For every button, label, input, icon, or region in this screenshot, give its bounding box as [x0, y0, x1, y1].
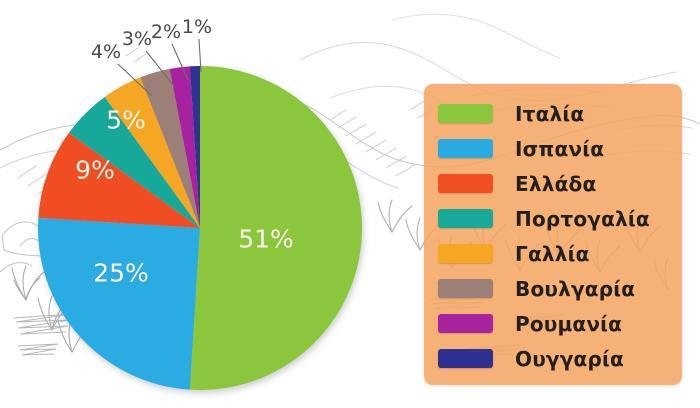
legend-item-romania[interactable]: Ρουμανία [424, 306, 682, 341]
legend-label-france: Γαλλία [515, 242, 590, 266]
legend-label-greece: Ελλάδα [515, 172, 596, 196]
chart-legend: Ιταλία Ισπανία Ελλάδα Πορτογαλία Γαλλία … [424, 84, 682, 385]
slice-callout-label-france: 4% [91, 41, 121, 63]
legend-swatch-romania [438, 314, 493, 333]
legend-swatch-france [438, 244, 493, 263]
legend-swatch-bulgaria [438, 279, 493, 298]
legend-swatch-spain [438, 139, 493, 158]
legend-item-spain[interactable]: Ισπανία [424, 131, 682, 166]
legend-label-spain: Ισπανία [515, 137, 604, 161]
legend-label-hungary: Ουγγαρία [515, 347, 624, 371]
legend-item-portugal[interactable]: Πορτογαλία [424, 201, 682, 236]
slice-callout-label-hungary: 1% [182, 16, 212, 38]
pie-slice-Ισπανία[interactable] [38, 218, 200, 390]
legend-label-italy: Ιταλία [515, 102, 584, 126]
legend-swatch-hungary [438, 349, 493, 368]
legend-swatch-portugal [438, 209, 493, 228]
legend-item-greece[interactable]: Ελλάδα [424, 166, 682, 201]
slice-value-label-portugal: 5% [106, 106, 146, 135]
legend-swatch-greece [438, 174, 493, 193]
pie-slices-group [38, 66, 362, 390]
slice-callout-label-romania: 2% [151, 21, 181, 43]
slice-value-label-greece: 9% [75, 156, 115, 185]
chart-canvas: 51% 25% 9% 5% 4% 3% 2% 1% Ιταλία Ισπανία… [0, 0, 700, 404]
legend-item-hungary[interactable]: Ουγγαρία [424, 341, 682, 376]
legend-item-bulgaria[interactable]: Βουλγαρία [424, 271, 682, 306]
legend-item-italy[interactable]: Ιταλία [424, 96, 682, 131]
legend-swatch-italy [438, 104, 493, 123]
slice-value-label-italy: 51% [238, 225, 294, 254]
legend-label-romania: Ρουμανία [515, 312, 622, 336]
slice-value-label-spain: 25% [93, 259, 149, 288]
legend-label-bulgaria: Βουλγαρία [515, 277, 635, 301]
legend-label-portugal: Πορτογαλία [515, 207, 650, 231]
legend-item-france[interactable]: Γαλλία [424, 236, 682, 271]
slice-callout-label-bulgaria: 3% [122, 28, 152, 50]
